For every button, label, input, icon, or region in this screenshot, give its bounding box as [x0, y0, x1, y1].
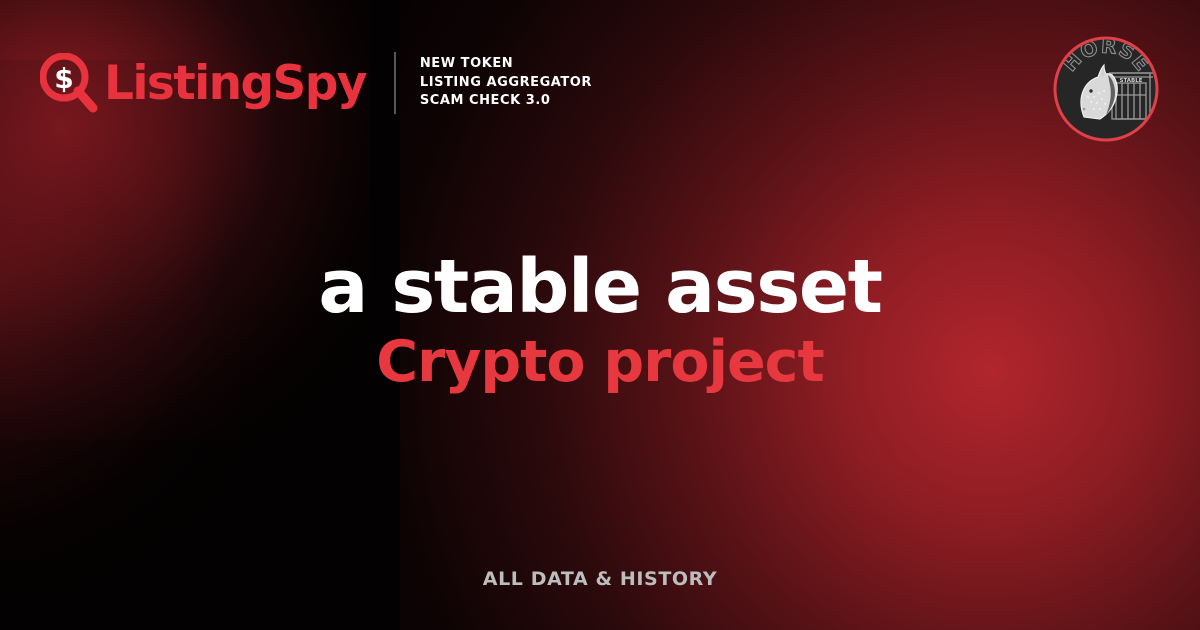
svg-text:$: $	[54, 62, 73, 95]
horse-stable-token-icon: STABLE HORSE	[1050, 33, 1162, 145]
header: $ ListingSpy NEW TOKEN LISTING AGGREGATO…	[40, 52, 592, 114]
badge-sign-text: STABLE	[1120, 78, 1143, 84]
tagline-line-1: NEW TOKEN	[420, 55, 592, 74]
tagline-line-2: LISTING AGGREGATOR	[420, 74, 592, 93]
brand-name: ListingSpy	[104, 60, 366, 107]
promo-banner: $ ListingSpy NEW TOKEN LISTING AGGREGATO…	[0, 0, 1200, 630]
tagline-line-3: SCAM CHECK 3.0	[420, 92, 592, 111]
page-subtitle: Crypto project	[0, 332, 1200, 394]
footer-caption: ALL DATA & HISTORY	[0, 568, 1200, 590]
hero-block: a stable asset Crypto project	[0, 248, 1200, 394]
token-badge[interactable]: STABLE HORSE	[1050, 33, 1162, 145]
magnifier-dollar-icon: $	[40, 53, 98, 113]
brand-logo[interactable]: $ ListingSpy	[40, 53, 366, 113]
header-divider	[394, 52, 396, 114]
page-title: a stable asset	[0, 248, 1200, 326]
brand-tagline: NEW TOKEN LISTING AGGREGATOR SCAM CHECK …	[420, 55, 592, 112]
